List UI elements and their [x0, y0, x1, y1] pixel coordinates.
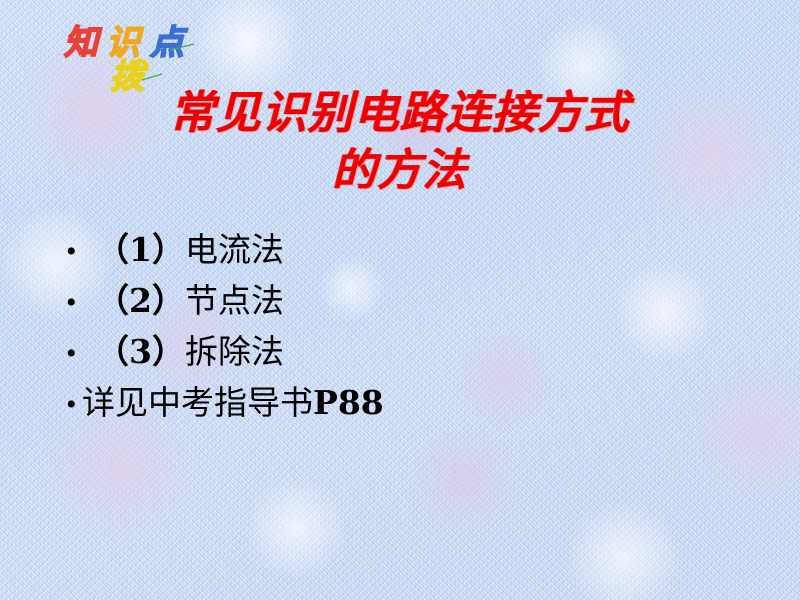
list-item-page-reference: P88: [313, 383, 384, 422]
wordart-knowledge-tips: 知 识 点 拨: [58, 14, 238, 94]
wordart-char-2: 识: [106, 24, 144, 62]
list-item-text: 详见中考指导书P88: [82, 381, 766, 425]
bullet-marker-icon: •: [66, 281, 96, 325]
slide-canvas: 知 识 点 拨 常见识别电路连接方式 的方法 • （1）电流法 • （2）节点法…: [0, 0, 800, 600]
page-title-line-2: 的方法: [0, 142, 800, 200]
wordart-flourish-green: [170, 44, 194, 50]
bullet-marker-icon: •: [66, 332, 96, 376]
list-item-number: （2）: [96, 281, 185, 320]
wordart-char-1: 知: [64, 24, 102, 62]
list-item-text: （3）拆除法: [96, 330, 766, 374]
bullet-marker-icon: •: [66, 230, 96, 274]
list-item: • （1）电流法: [66, 228, 766, 279]
list-item-label: 详见中考指导书: [82, 383, 313, 422]
wordart-flourish-green-2: [142, 74, 162, 80]
list-item-text: （1）电流法: [96, 228, 766, 272]
bullet-list: • （1）电流法 • （2）节点法 • （3）拆除法 • 详见中考指导书P88: [66, 228, 766, 432]
list-item: • （3）拆除法: [66, 330, 766, 381]
list-item-number: （1）: [96, 230, 185, 269]
page-title-line-1: 常见识别电路连接方式: [0, 84, 800, 142]
list-item: • （2）节点法: [66, 279, 766, 330]
page-title: 常见识别电路连接方式 的方法: [0, 84, 800, 200]
list-item-number: （3）: [96, 332, 185, 371]
wordart-char-3: 点: [150, 24, 188, 62]
list-item-label: 节点法: [185, 281, 284, 320]
list-item-text: （2）节点法: [96, 279, 766, 323]
list-item-label: 电流法: [185, 230, 284, 269]
list-item-label: 拆除法: [185, 332, 284, 371]
list-item: • 详见中考指导书P88: [66, 381, 766, 432]
